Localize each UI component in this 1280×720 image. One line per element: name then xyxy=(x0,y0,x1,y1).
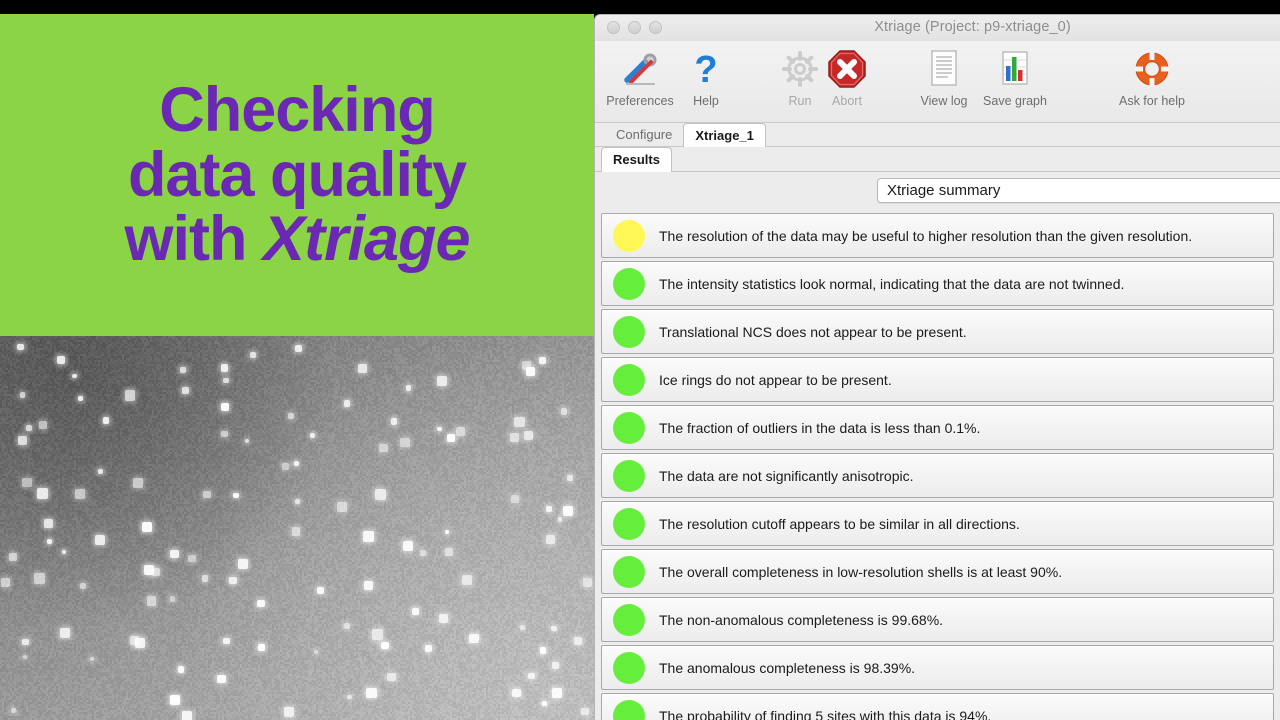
diffraction-spot xyxy=(133,478,143,488)
abort-button[interactable]: Abort xyxy=(810,45,884,108)
result-row[interactable]: The anomalous completeness is 98.39%. xyxy=(601,645,1274,690)
diffraction-spot xyxy=(170,596,175,601)
presentation-slide-panel: Checking data quality with Xtriage xyxy=(0,14,594,720)
save-graph-button[interactable]: Save graph xyxy=(978,45,1052,108)
diffraction-spot xyxy=(561,408,568,415)
diffraction-spot xyxy=(366,688,377,699)
diffraction-spot xyxy=(23,655,27,659)
xtriage-application-window: Xtriage (Project: p9-xtriage_0) Preferen… xyxy=(594,14,1280,720)
preferences-label: Preferences xyxy=(606,94,673,108)
xtriage-summary-dropdown[interactable]: Xtriage summary xyxy=(877,178,1280,203)
diffraction-spot xyxy=(510,433,519,442)
diffraction-spot xyxy=(412,608,418,614)
result-text: The anomalous completeness is 98.39%. xyxy=(659,660,915,676)
status-dot-ok xyxy=(613,412,645,444)
diffraction-spot xyxy=(403,541,413,551)
status-dot-ok xyxy=(613,604,645,636)
view-log-label: View log xyxy=(920,94,967,108)
diffraction-spot xyxy=(22,478,32,488)
diffraction-spot xyxy=(379,444,387,452)
diffraction-spot xyxy=(135,638,145,648)
diffraction-spot xyxy=(221,364,229,372)
question-mark-icon: ? xyxy=(688,45,724,93)
diffraction-spot xyxy=(44,519,53,528)
result-text: The intensity statistics look normal, in… xyxy=(659,276,1124,292)
diffraction-spot xyxy=(142,522,153,533)
diffraction-spot xyxy=(18,436,27,445)
diffraction-spot xyxy=(542,701,547,706)
diffraction-spot xyxy=(217,675,226,684)
tab-configure[interactable]: Configure xyxy=(605,123,683,147)
diffraction-spot xyxy=(437,376,448,387)
diffraction-spot xyxy=(295,499,300,504)
window-titlebar[interactable]: Xtriage (Project: p9-xtriage_0) xyxy=(595,15,1280,41)
bar-chart-icon xyxy=(998,45,1032,93)
diffraction-spot xyxy=(528,673,534,679)
diffraction-spot xyxy=(26,425,32,431)
diffraction-spot xyxy=(229,577,236,584)
view-log-button[interactable]: View log xyxy=(907,45,981,108)
status-dot-ok xyxy=(613,508,645,540)
diffraction-spot xyxy=(9,553,18,562)
diffraction-spot xyxy=(551,626,556,631)
diffraction-spot xyxy=(258,644,265,651)
diffraction-spot xyxy=(310,433,316,439)
diffraction-spot xyxy=(400,438,409,447)
window-title: Xtriage (Project: p9-xtriage_0) xyxy=(595,19,1280,35)
summary-selector-row: Xtriage summary xyxy=(595,172,1280,209)
diffraction-spot xyxy=(233,493,239,499)
diffraction-spot xyxy=(294,461,299,466)
life-ring-icon xyxy=(1132,45,1172,93)
result-text: The resolution of the data may be useful… xyxy=(659,228,1192,244)
abort-label: Abort xyxy=(832,94,862,108)
preferences-button[interactable]: Preferences xyxy=(603,45,677,108)
diffraction-spot xyxy=(125,390,136,401)
diffraction-spot xyxy=(62,550,67,555)
status-dot-warning xyxy=(613,220,645,252)
main-toolbar: Preferences ? Help xyxy=(595,41,1280,123)
diffraction-spot xyxy=(520,625,525,630)
diffraction-spot xyxy=(445,530,449,534)
diffraction-spot xyxy=(238,559,248,569)
diffraction-spot xyxy=(288,413,294,419)
diffraction-spot xyxy=(526,367,535,376)
help-label: Help xyxy=(693,94,719,108)
diffraction-spot xyxy=(72,374,77,379)
diffraction-spot xyxy=(558,517,563,522)
diffraction-image xyxy=(0,336,594,720)
status-dot-ok xyxy=(613,700,645,720)
diffraction-spot xyxy=(282,463,289,470)
result-text: The resolution cutoff appears to be simi… xyxy=(659,516,1020,532)
diffraction-spot xyxy=(78,396,83,401)
diffraction-spot xyxy=(223,638,229,644)
ask-for-help-button[interactable]: Ask for help xyxy=(1107,45,1197,108)
diffraction-spot xyxy=(152,568,160,576)
diffraction-spot xyxy=(57,356,65,364)
diffraction-spot xyxy=(567,475,573,481)
diffraction-spot xyxy=(337,502,347,512)
diffraction-spot xyxy=(381,642,389,650)
sub-tabbar: Results xyxy=(595,147,1280,172)
diffraction-spot xyxy=(39,421,46,428)
diffraction-spot xyxy=(462,575,472,585)
stop-sign-icon xyxy=(827,45,867,93)
diffraction-spot xyxy=(292,527,301,536)
slide-title-line-1: Checking xyxy=(159,78,435,143)
diffraction-spot xyxy=(363,531,374,542)
diffraction-spot xyxy=(391,418,397,424)
diffraction-spot xyxy=(188,555,196,563)
diffraction-spot xyxy=(439,614,448,623)
diffraction-spot xyxy=(20,392,25,397)
diffraction-spot xyxy=(563,506,573,516)
diffraction-spot xyxy=(344,400,351,407)
diffraction-spot xyxy=(90,657,94,661)
diffraction-spot xyxy=(552,688,562,698)
diffraction-spot xyxy=(372,629,383,640)
letterbox-strip xyxy=(0,0,1280,14)
diffraction-spot xyxy=(103,417,110,424)
diffraction-spot xyxy=(221,403,229,411)
diffraction-spot xyxy=(344,623,350,629)
diffraction-spot xyxy=(98,469,104,475)
diffraction-spot xyxy=(317,587,324,594)
status-dot-ok xyxy=(613,268,645,300)
diffraction-spot xyxy=(425,645,433,653)
result-row[interactable]: The data are not significantly anisotrop… xyxy=(601,453,1274,498)
diffraction-spot xyxy=(540,647,546,653)
diffraction-spot xyxy=(95,535,105,545)
diffraction-spot xyxy=(552,662,559,669)
diffraction-spot xyxy=(147,596,157,606)
result-row[interactable]: Ice rings do not appear to be present. xyxy=(601,357,1274,402)
diffraction-spot xyxy=(456,427,465,436)
diffraction-spot xyxy=(34,573,45,584)
result-text: The overall completeness in low-resoluti… xyxy=(659,564,1062,580)
result-row[interactable]: The intensity statistics look normal, in… xyxy=(601,261,1274,306)
diffraction-spot xyxy=(469,634,478,643)
diffraction-spot xyxy=(364,581,373,590)
result-row[interactable]: The non-anomalous completeness is 99.68%… xyxy=(601,597,1274,642)
diffraction-spot xyxy=(284,707,294,717)
diffraction-spot xyxy=(295,345,302,352)
diffraction-spot xyxy=(581,708,589,716)
diffraction-spot xyxy=(22,639,28,645)
result-text: The probability of finding 5 sites with … xyxy=(659,708,991,720)
diffraction-spot xyxy=(1,578,10,587)
diffraction-spot xyxy=(223,378,229,384)
result-text: Translational NCS does not appear to be … xyxy=(659,324,967,340)
diffraction-spot xyxy=(180,367,186,373)
result-text: The fraction of outliers in the data is … xyxy=(659,420,980,436)
result-row[interactable]: The overall completeness in low-resoluti… xyxy=(601,549,1274,594)
diffraction-spot xyxy=(583,578,592,587)
diffraction-spot xyxy=(203,491,211,499)
diffraction-spot xyxy=(406,385,411,390)
diffraction-spot xyxy=(80,583,86,589)
diffraction-spot xyxy=(11,708,16,713)
subtab-results[interactable]: Results xyxy=(601,147,672,172)
status-dot-ok xyxy=(613,652,645,684)
diffraction-spot xyxy=(539,357,546,364)
result-row[interactable]: The probability of finding 5 sites with … xyxy=(601,693,1274,720)
result-row[interactable]: The resolution of the data may be useful… xyxy=(601,213,1274,258)
tab-xtriage-1[interactable]: Xtriage_1 xyxy=(683,123,766,147)
diffraction-spot xyxy=(524,431,533,440)
diffraction-spot xyxy=(170,695,181,706)
result-row[interactable]: The fraction of outliers in the data is … xyxy=(601,405,1274,450)
diffraction-spot xyxy=(437,427,442,432)
screenshot-root: Checking data quality with Xtriage Xtria… xyxy=(0,0,1280,720)
diffraction-spots xyxy=(0,336,594,720)
diffraction-spot xyxy=(75,489,85,499)
diffraction-spot xyxy=(574,637,582,645)
result-text: The non-anomalous completeness is 99.68%… xyxy=(659,612,943,628)
ask-for-help-label: Ask for help xyxy=(1119,94,1185,108)
status-dot-ok xyxy=(613,460,645,492)
diffraction-spot xyxy=(170,550,178,558)
svg-text:?: ? xyxy=(694,49,717,90)
diffraction-spot xyxy=(60,628,70,638)
tools-icon xyxy=(619,45,661,93)
save-graph-label: Save graph xyxy=(983,94,1047,108)
slide-title-line-3: with Xtriage xyxy=(124,207,469,272)
diffraction-spot xyxy=(182,711,192,720)
diffraction-spot xyxy=(245,439,249,443)
status-dot-ok xyxy=(613,556,645,588)
main-tabbar: ConfigureXtriage_1 xyxy=(595,123,1280,147)
diffraction-spot xyxy=(347,695,352,700)
diffraction-spot xyxy=(358,364,367,373)
slide-title-with: with xyxy=(124,204,262,274)
document-icon xyxy=(927,45,961,93)
diffraction-spot xyxy=(375,489,386,500)
diffraction-spot xyxy=(314,650,318,654)
diffraction-spot xyxy=(47,539,52,544)
status-dot-ok xyxy=(613,316,645,348)
slide-title-card: Checking data quality with Xtriage xyxy=(0,14,594,336)
diffraction-spot xyxy=(17,344,24,351)
diffraction-spot xyxy=(511,495,519,503)
help-button[interactable]: ? Help xyxy=(669,45,743,108)
slide-title-line-2: data quality xyxy=(128,143,466,208)
diffraction-spot xyxy=(178,666,185,673)
diffraction-spot xyxy=(221,431,228,438)
result-row[interactable]: The resolution cutoff appears to be simi… xyxy=(601,501,1274,546)
status-dot-ok xyxy=(613,364,645,396)
diffraction-spot xyxy=(202,575,209,582)
diffraction-spot xyxy=(420,550,426,556)
run-label: Run xyxy=(789,94,812,108)
diffraction-spot xyxy=(447,434,455,442)
diffraction-spot xyxy=(514,417,524,427)
diffraction-spot xyxy=(37,488,47,498)
diffraction-spot xyxy=(182,387,189,394)
diffraction-spot xyxy=(512,689,521,698)
diffraction-spot xyxy=(546,535,555,544)
diffraction-spot xyxy=(387,673,395,681)
result-row[interactable]: Translational NCS does not appear to be … xyxy=(601,309,1274,354)
diffraction-spot xyxy=(546,506,552,512)
diffraction-spot xyxy=(445,548,453,556)
results-list: The resolution of the data may be useful… xyxy=(595,209,1280,720)
diffraction-spot xyxy=(257,600,264,607)
result-text: The data are not significantly anisotrop… xyxy=(659,468,913,484)
result-text: Ice rings do not appear to be present. xyxy=(659,372,892,388)
slide-title-xtriage: Xtriage xyxy=(263,204,470,274)
diffraction-spot xyxy=(250,352,256,358)
